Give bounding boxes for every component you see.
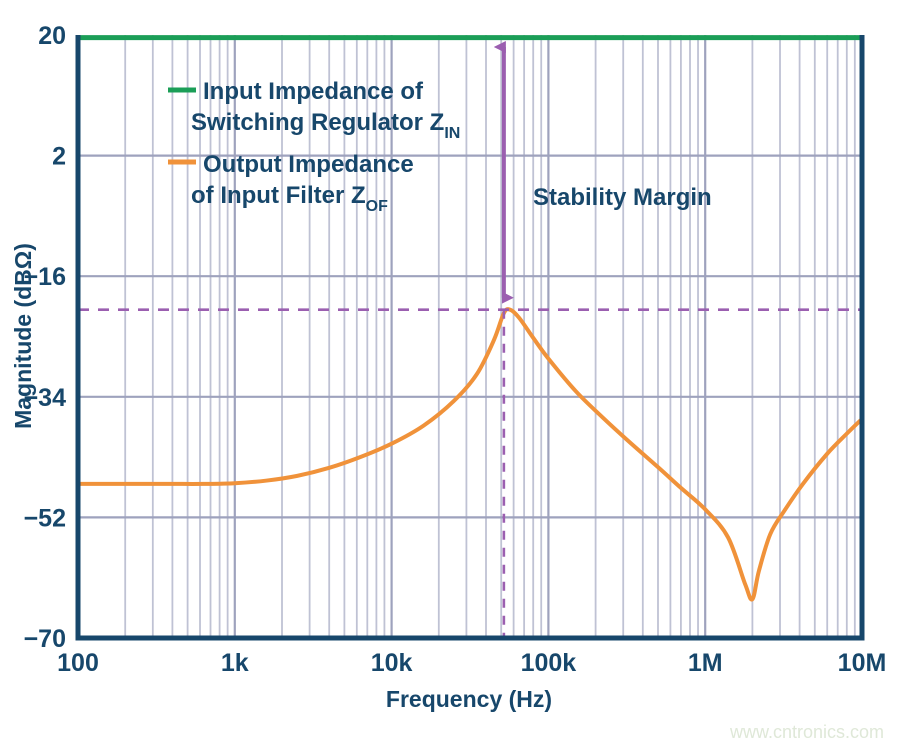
legend-label-output-impedance-line1: Output Impedance bbox=[203, 151, 414, 178]
x-tick-label: 1k bbox=[221, 649, 249, 677]
x-axis-title: Frequency (Hz) bbox=[386, 686, 552, 712]
x-tick-label: 100 bbox=[57, 649, 99, 677]
x-tick-label: 10M bbox=[838, 649, 887, 677]
x-tick-label: 100k bbox=[521, 649, 577, 677]
x-tick-label: 10k bbox=[371, 649, 413, 677]
watermark: www.cntronics.com bbox=[729, 722, 884, 742]
y-axis-title: Magnitude (dBΩ) bbox=[10, 243, 36, 429]
y-tick-label: −52 bbox=[24, 504, 66, 532]
legend-label-input-impedance-line1: Input Impedance of bbox=[203, 78, 424, 105]
chart-canvas: 202−16−34−52−70 1001k10k100k1M10M Freque… bbox=[0, 0, 900, 750]
y-tick-label: 2 bbox=[52, 143, 66, 171]
stability-margin-label: Stability Margin bbox=[533, 184, 712, 211]
y-tick-label: 20 bbox=[38, 22, 66, 50]
impedance-bode-chart: 202−16−34−52−70 1001k10k100k1M10M Freque… bbox=[0, 0, 900, 750]
x-tick-label: 1M bbox=[688, 649, 723, 677]
x-axis-tick-labels: 1001k10k100k1M10M bbox=[57, 649, 886, 677]
